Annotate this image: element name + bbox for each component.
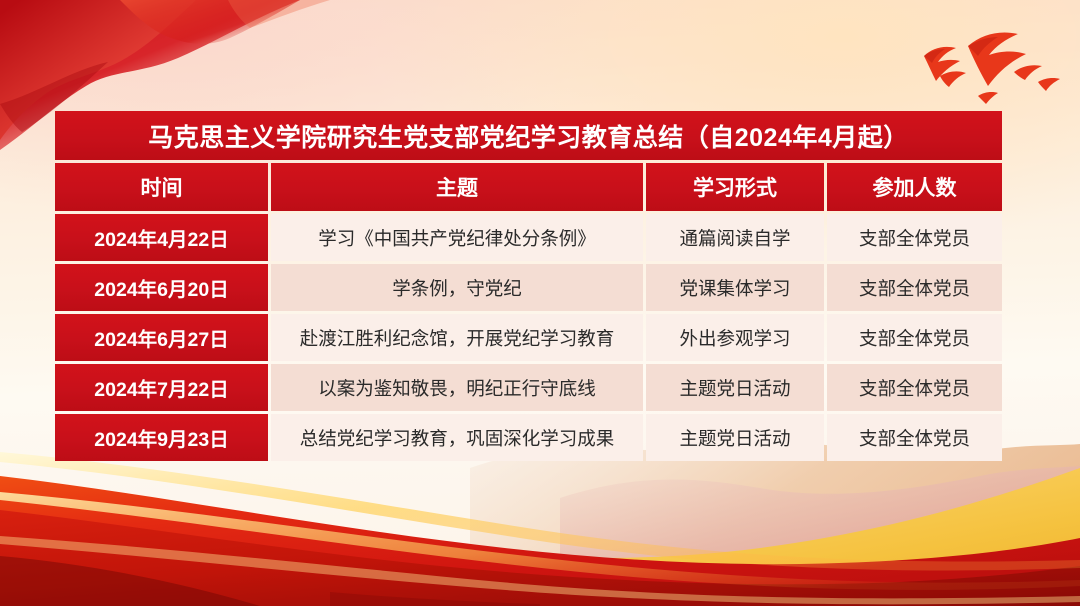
cell-people: 支部全体党员	[827, 364, 1002, 411]
table-row: 2024年6月27日 赴渡江胜利纪念馆，开展党纪学习教育 外出参观学习 支部全体…	[55, 314, 1002, 361]
cell-form: 通篇阅读自学	[646, 214, 824, 261]
cell-time: 2024年6月27日	[55, 314, 268, 361]
cell-time: 2024年4月22日	[55, 214, 268, 261]
cell-form: 主题党日活动	[646, 364, 824, 411]
cell-form: 主题党日活动	[646, 414, 824, 461]
cell-people: 支部全体党员	[827, 264, 1002, 311]
cell-time: 2024年7月22日	[55, 364, 268, 411]
cell-topic: 学习《中国共产党纪律处分条例》	[271, 214, 643, 261]
column-header-people: 参加人数	[827, 163, 1002, 211]
cell-topic: 赴渡江胜利纪念馆，开展党纪学习教育	[271, 314, 643, 361]
cell-time: 2024年6月20日	[55, 264, 268, 311]
column-header-form: 学习形式	[646, 163, 824, 211]
summary-table-container: 马克思主义学院研究生党支部党纪学习教育总结（自2024年4月起） 时间 主题 学…	[52, 108, 996, 464]
cell-people: 支部全体党员	[827, 314, 1002, 361]
table-row: 2024年9月23日 总结党纪学习教育，巩固深化学习成果 主题党日活动 支部全体…	[55, 414, 1002, 461]
cell-topic: 总结党纪学习教育，巩固深化学习成果	[271, 414, 643, 461]
cell-people: 支部全体党员	[827, 414, 1002, 461]
column-header-topic: 主题	[271, 163, 643, 211]
cell-people: 支部全体党员	[827, 214, 1002, 261]
flying-birds-icon	[872, 18, 1072, 110]
slide-canvas: 马克思主义学院研究生党支部党纪学习教育总结（自2024年4月起） 时间 主题 学…	[0, 0, 1080, 606]
cell-form: 外出参观学习	[646, 314, 824, 361]
page-title: 马克思主义学院研究生党支部党纪学习教育总结（自2024年4月起）	[55, 111, 1002, 160]
column-header-time: 时间	[55, 163, 268, 211]
study-summary-table: 马克思主义学院研究生党支部党纪学习教育总结（自2024年4月起） 时间 主题 学…	[52, 108, 1005, 464]
table-title-row: 马克思主义学院研究生党支部党纪学习教育总结（自2024年4月起）	[55, 111, 1002, 160]
table-row: 2024年7月22日 以案为鉴知敬畏，明纪正行守底线 主题党日活动 支部全体党员	[55, 364, 1002, 411]
table-row: 2024年6月20日 学条例，守党纪 党课集体学习 支部全体党员	[55, 264, 1002, 311]
cell-topic: 以案为鉴知敬畏，明纪正行守底线	[271, 364, 643, 411]
cell-form: 党课集体学习	[646, 264, 824, 311]
cell-time: 2024年9月23日	[55, 414, 268, 461]
table-header-row: 时间 主题 学习形式 参加人数	[55, 163, 1002, 211]
cell-topic: 学条例，守党纪	[271, 264, 643, 311]
table-row: 2024年4月22日 学习《中国共产党纪律处分条例》 通篇阅读自学 支部全体党员	[55, 214, 1002, 261]
